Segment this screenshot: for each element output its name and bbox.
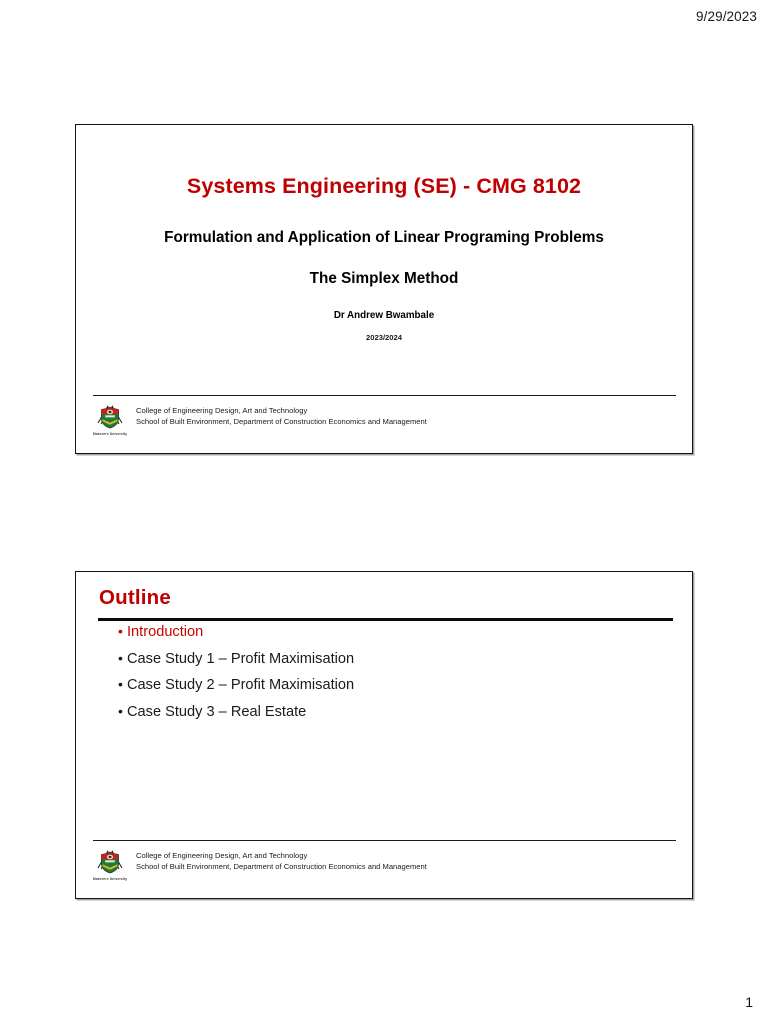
slide-outline: Outline • Introduction • Case Study 1 – … [75, 571, 693, 899]
slide-subtitle-primary: Formulation and Application of Linear Pr… [76, 229, 692, 247]
outline-list: • Introduction • Case Study 1 – Profit M… [98, 624, 674, 730]
slide-title-page: Systems Engineering (SE) - CMG 8102 Form… [75, 124, 693, 454]
bullet-icon: • [98, 677, 127, 691]
footer-content: Makerere University College of Engineeri… [93, 403, 427, 436]
footer-text-block: College of Engineering Design, Art and T… [136, 848, 427, 872]
logo-caption: Makerere University [93, 432, 127, 436]
bullet-icon: • [98, 624, 127, 638]
footer-divider [93, 395, 676, 396]
list-item-label: Case Study 3 – Real Estate [127, 704, 306, 720]
makerere-university-crest-icon: Makerere University [93, 403, 127, 436]
list-item-label: Case Study 2 – Profit Maximisation [127, 677, 354, 693]
logo-caption: Makerere University [93, 877, 127, 881]
list-item: • Case Study 3 – Real Estate [98, 704, 674, 731]
slide-title: Systems Engineering (SE) - CMG 8102 [76, 174, 692, 199]
bullet-icon: • [98, 704, 127, 718]
outline-title-divider [98, 618, 673, 621]
footer-line-school: School of Built Environment, Department … [136, 862, 427, 873]
list-item: • Case Study 1 – Profit Maximisation [98, 651, 674, 678]
slide-footer: Makerere University College of Engineeri… [76, 840, 692, 898]
page-number: 1 [745, 994, 753, 1010]
footer-text-block: College of Engineering Design, Art and T… [136, 403, 427, 427]
bullet-icon: • [98, 651, 127, 665]
slide-subtitle-secondary: The Simplex Method [76, 270, 692, 288]
footer-line-college: College of Engineering Design, Art and T… [136, 851, 427, 862]
footer-line-school: School of Built Environment, Department … [136, 417, 427, 428]
slide-academic-year: 2023/2024 [76, 333, 692, 342]
page-date: 9/29/2023 [696, 9, 757, 24]
outline-heading: Outline [99, 586, 171, 610]
slide-author: Dr Andrew Bwambale [76, 310, 692, 321]
footer-content: Makerere University College of Engineeri… [93, 848, 427, 881]
makerere-university-crest-icon: Makerere University [93, 848, 127, 881]
slide-footer: Makerere University College of Engineeri… [76, 395, 692, 453]
footer-divider [93, 840, 676, 841]
list-item: • Case Study 2 – Profit Maximisation [98, 677, 674, 704]
list-item-label: Case Study 1 – Profit Maximisation [127, 651, 354, 667]
footer-line-college: College of Engineering Design, Art and T… [136, 406, 427, 417]
list-item: • Introduction [98, 624, 674, 651]
list-item-label: Introduction [127, 624, 203, 640]
